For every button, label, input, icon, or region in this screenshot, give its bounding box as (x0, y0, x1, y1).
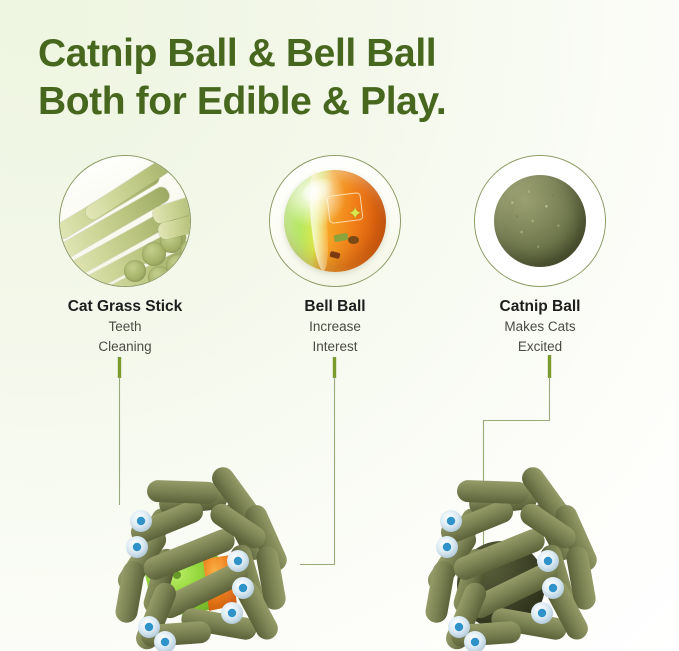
feature-subtitle-line-1: Makes Cats (465, 318, 615, 335)
catnip-ball-sphere (494, 175, 586, 267)
grass-sticks-image (60, 156, 190, 286)
bell-ball-scene (270, 156, 400, 286)
feature-subtitle-line-1: Teeth (50, 318, 200, 335)
feature-subtitle-line-2: Excited (465, 338, 615, 355)
catnip-ball-photo (474, 155, 606, 287)
product-infographic-poster: Catnip Ball & Bell Ball Both for Edible … (0, 0, 679, 651)
page-title: Catnip Ball & Bell Ball Both for Edible … (38, 30, 618, 125)
feature-subtitle-line-2: Cleaning (50, 338, 200, 355)
feature-cat-grass-stick: Cat Grass Stick Teeth Cleaning (50, 155, 200, 355)
feature-title: Catnip Ball (465, 297, 615, 316)
product-photo-ball-with-bell (85, 455, 315, 651)
headline-line-1: Catnip Ball & Bell Ball (38, 30, 618, 78)
catnip-ball-image (475, 156, 605, 286)
feature-title: Cat Grass Stick (50, 297, 200, 316)
grass-sticks-scene (60, 156, 190, 286)
toy-ball-right-illustration (395, 455, 625, 651)
bell-ball-photo (269, 155, 401, 287)
cat-grass-stick-photo (59, 155, 191, 287)
bell-ball-image (270, 156, 400, 286)
catnip-ball-scene (475, 156, 605, 286)
feature-title: Bell Ball (260, 297, 410, 316)
catnip-ball-texture (494, 175, 586, 267)
product-photo-ball-with-catnip (395, 455, 625, 651)
feature-subtitle-line-1: Increase (260, 318, 410, 335)
feature-subtitle-line-2: Interest (260, 338, 410, 355)
bell-ball-fleck (348, 236, 359, 244)
feature-catnip-ball: Catnip Ball Makes Cats Excited (465, 155, 615, 355)
headline-line-2: Both for Edible & Play. (38, 78, 618, 126)
feature-bell-ball: Bell Ball Increase Interest (260, 155, 410, 355)
toy-ball-left-illustration (85, 455, 315, 651)
